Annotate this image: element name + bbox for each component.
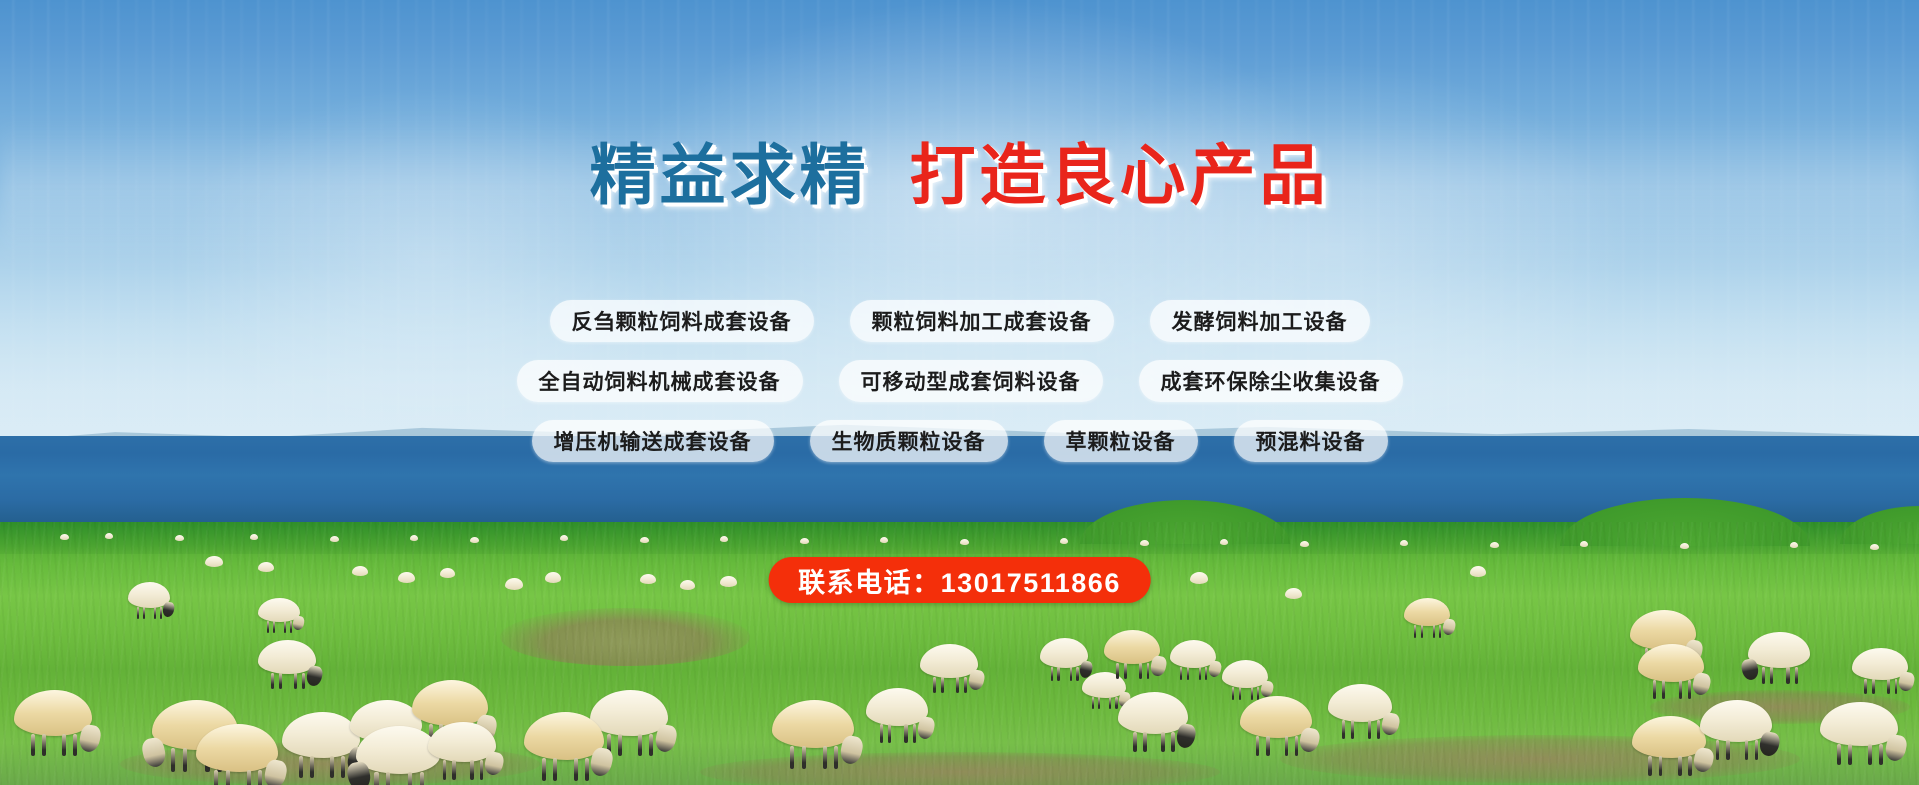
sheep [428,722,496,762]
sheep-mid [258,562,274,572]
product-pill-row-2: 全自动饲料机械成套设备 可移动型成套饲料设备 成套环保除尘收集设备 [0,360,1919,402]
product-pill[interactable]: 预混料设备 [1234,420,1388,462]
sheep-far [560,535,568,541]
sheep [1638,644,1704,682]
sheep-far [640,537,649,543]
sheep-far [250,534,258,540]
sheep-mid [352,566,368,576]
sheep-far [410,535,418,541]
sheep-mid [505,578,523,590]
sheep [1328,684,1392,722]
product-pill-row-3: 增压机输送成套设备 生物质颗粒设备 草颗粒设备 预混料设备 [0,420,1919,462]
sheep-far [960,539,969,545]
sheep-mid [398,572,415,583]
sheep-mid [680,580,695,590]
sheep-far [1400,540,1408,546]
sheep-mid [1285,588,1302,599]
sheep [258,598,300,622]
sheep-far [60,534,69,540]
sheep [1240,696,1312,738]
sheep [128,582,170,608]
sheep [920,644,978,678]
sheep-far [1140,540,1149,546]
headline: 精益求精打造良心产品 [0,142,1919,208]
sheep-far [1220,539,1228,545]
sheep-far [175,535,184,541]
sheep [1700,700,1772,742]
sheep-far [1680,543,1689,549]
product-pill[interactable]: 草颗粒设备 [1044,420,1198,462]
sheep [258,640,316,674]
sheep [1404,598,1450,626]
sheep-far [1060,538,1068,544]
sheep-mid [440,568,455,578]
sheep-far [330,536,339,542]
sheep-mid [545,572,561,583]
product-pill[interactable]: 颗粒饲料加工成套设备 [850,300,1114,342]
sheep-far [800,538,809,544]
sheep-far [1490,542,1499,548]
contact-phone-banner[interactable]: 联系电话：13017511866 [768,557,1151,603]
sheep [1170,640,1216,668]
product-pill[interactable]: 全自动饲料机械成套设备 [517,360,803,402]
sheep-mid [640,574,656,584]
sheep-mid [720,576,737,587]
sheep [1040,638,1088,668]
sheep-far [105,533,113,539]
promo-banner: 精益求精打造良心产品 反刍颗粒饲料成套设备 颗粒饲料加工成套设备 发酵饲料加工设… [0,0,1919,785]
sheep-far [470,537,479,543]
sheep-mid [205,556,223,567]
sheep-far [1790,542,1798,548]
product-pill[interactable]: 成套环保除尘收集设备 [1139,360,1403,402]
product-pill[interactable]: 可移动型成套饲料设备 [839,360,1103,402]
sheep [866,688,928,726]
headline-blue-text: 精益求精 [590,138,870,212]
sheep-far [1300,541,1309,547]
sheep [1082,672,1126,698]
sheep [1852,648,1908,680]
product-pill-row-1: 反刍颗粒饲料成套设备 颗粒饲料加工成套设备 发酵饲料加工设备 [0,300,1919,342]
sheep [1118,692,1188,734]
product-pill[interactable]: 发酵饲料加工设备 [1150,300,1370,342]
sheep-mid [1190,572,1208,584]
sheep [1104,630,1160,664]
product-pill[interactable]: 生物质颗粒设备 [810,420,1008,462]
sheep-mid [1470,566,1486,577]
product-pill-groups: 反刍颗粒饲料成套设备 颗粒饲料加工成套设备 发酵饲料加工设备 全自动饲料机械成套… [0,300,1919,480]
sheep [1748,632,1810,668]
sheep [1222,660,1268,688]
sheep-far [880,537,888,543]
sheep-far [720,536,728,542]
product-pill[interactable]: 反刍颗粒饲料成套设备 [550,300,814,342]
sheep-far [1870,544,1879,550]
product-pill[interactable]: 增压机输送成套设备 [532,420,774,462]
sheep-far [1580,541,1588,547]
headline-red-text: 打造良心产品 [910,138,1330,212]
